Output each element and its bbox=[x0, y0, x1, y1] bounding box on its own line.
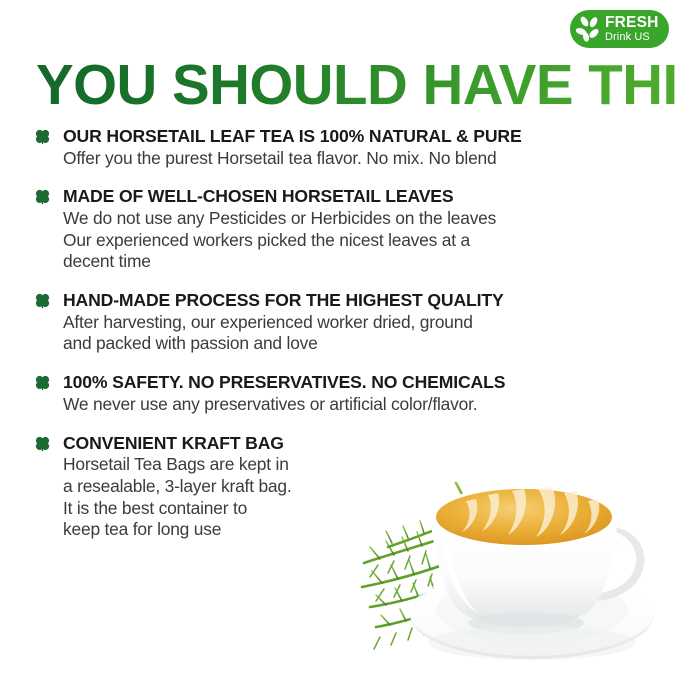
teacup-illustration bbox=[360, 455, 679, 679]
clover-icon bbox=[34, 128, 51, 145]
feature-title: CONVENIENT KRAFT BAG bbox=[63, 433, 634, 454]
page-title: YOU SHOULD HAVE THIS! bbox=[36, 57, 679, 114]
feature-line: and packed with passion and love bbox=[63, 333, 634, 355]
clover-icon bbox=[34, 374, 51, 391]
feature-title: 100% SAFETY. NO PRESERVATIVES. NO CHEMIC… bbox=[63, 372, 634, 393]
infographic-page: FRESH Drink US YOU SHOULD HAVE THIS! OUR… bbox=[0, 0, 679, 679]
teacup-with-horsetail-herb-photo bbox=[360, 455, 679, 679]
badge-text-block: FRESH Drink US bbox=[605, 15, 659, 44]
feature-title: OUR HORSETAIL LEAF TEA IS 100% NATURAL &… bbox=[63, 126, 634, 147]
feature-line: Our experienced workers picked the nices… bbox=[63, 230, 634, 252]
feature-line: We never use any preservatives or artifi… bbox=[63, 394, 634, 416]
feature-item: 100% SAFETY. NO PRESERVATIVES. NO CHEMIC… bbox=[34, 372, 634, 415]
feature-item: HAND-MADE PROCESS FOR THE HIGHEST QUALIT… bbox=[34, 290, 634, 355]
feature-item: MADE OF WELL-CHOSEN HORSETAIL LEAVES We … bbox=[34, 186, 634, 273]
clover-icon bbox=[34, 292, 51, 309]
feature-body: After harvesting, our experienced worker… bbox=[63, 312, 634, 356]
badge-subtitle: Drink US bbox=[605, 32, 659, 43]
feature-line: decent time bbox=[63, 251, 634, 273]
feature-line: Offer you the purest Horsetail tea flavo… bbox=[63, 148, 634, 170]
feature-item: OUR HORSETAIL LEAF TEA IS 100% NATURAL &… bbox=[34, 126, 634, 169]
badge-title: FRESH bbox=[605, 15, 659, 31]
feature-line: We do not use any Pesticides or Herbicid… bbox=[63, 208, 634, 230]
clover-icon bbox=[34, 188, 51, 205]
feature-line: After harvesting, our experienced worker… bbox=[63, 312, 634, 334]
brand-badge: FRESH Drink US bbox=[570, 10, 669, 48]
clover-icon bbox=[34, 435, 51, 452]
feature-body: We do not use any Pesticides or Herbicid… bbox=[63, 208, 634, 273]
feature-title: HAND-MADE PROCESS FOR THE HIGHEST QUALIT… bbox=[63, 290, 634, 311]
feature-body: Offer you the purest Horsetail tea flavo… bbox=[63, 148, 634, 170]
feature-body: We never use any preservatives or artifi… bbox=[63, 394, 634, 416]
feature-title: MADE OF WELL-CHOSEN HORSETAIL LEAVES bbox=[63, 186, 634, 207]
leaf-cluster-icon bbox=[574, 14, 604, 44]
